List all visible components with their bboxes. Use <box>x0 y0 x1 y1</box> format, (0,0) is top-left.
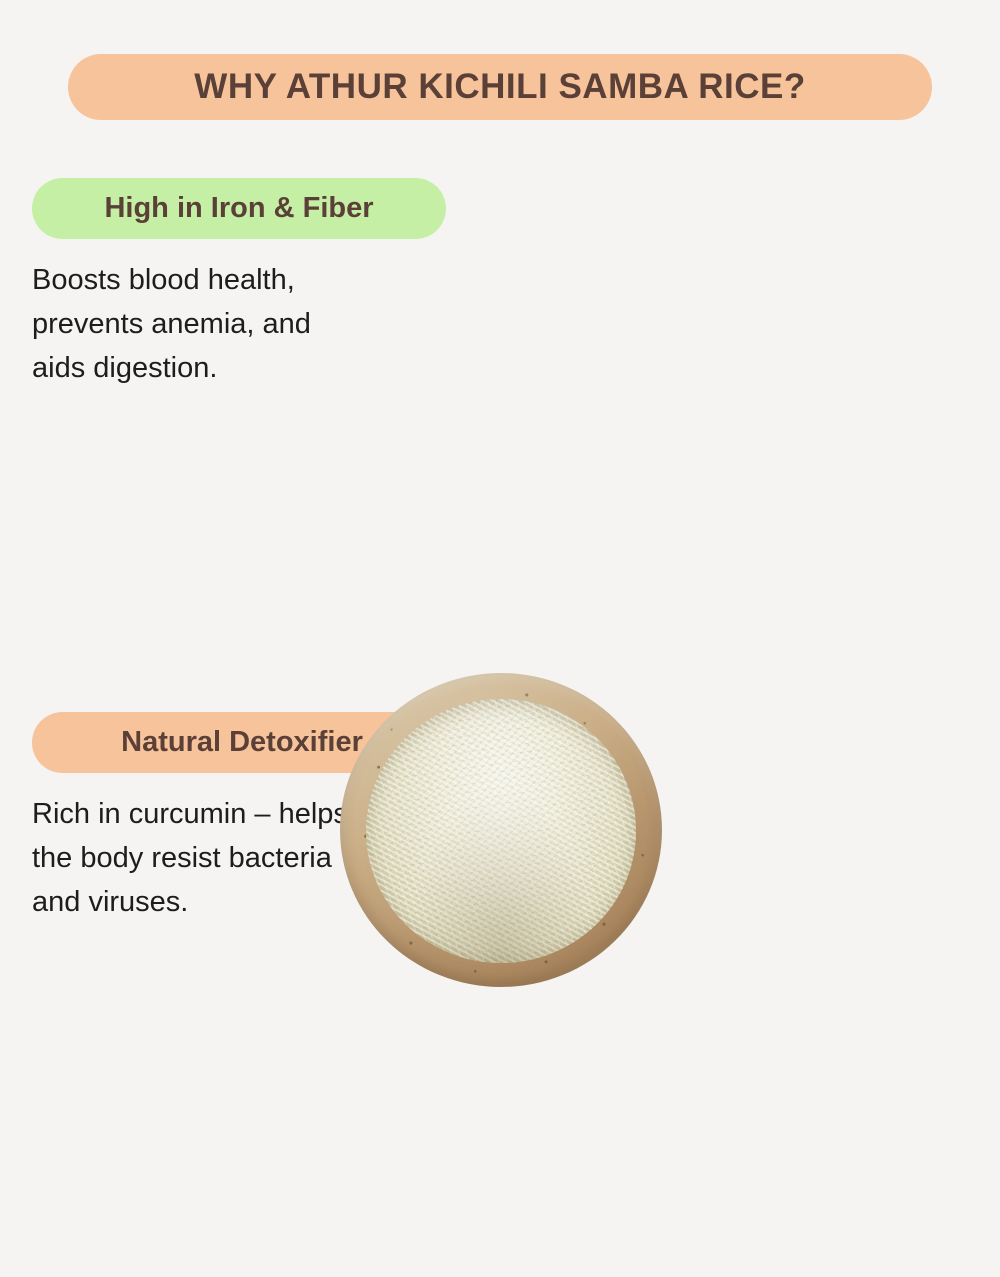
title-banner: WHY ATHUR KICHILI SAMBA RICE? <box>68 54 932 120</box>
benefit-heading-label-1: High in Iron & Fiber <box>104 194 373 223</box>
rice-bowl-photo <box>340 673 662 987</box>
benefit-heading-pill-1: High in Iron & Fiber <box>32 178 446 239</box>
page-title: WHY ATHUR KICHILI SAMBA RICE? <box>194 67 805 107</box>
benefit-card-antioxidants: Packed Antioxidants Rich in anthocyanins… <box>464 178 1000 655</box>
benefits-row-1: High in Iron & Fiber Boosts blood health… <box>0 178 1000 655</box>
bowl-interior <box>366 699 636 963</box>
benefit-heading-label-3: Natural Detoxifier <box>121 728 363 757</box>
benefit-body-1: Boosts blood health, prevents anemia, an… <box>32 258 432 390</box>
infographic-root: WHY ATHUR KICHILI SAMBA RICE? High in Ir… <box>0 0 1000 1000</box>
benefit-card-iron-fiber: High in Iron & Fiber Boosts blood health… <box>0 178 464 655</box>
rice-shading <box>366 699 636 963</box>
